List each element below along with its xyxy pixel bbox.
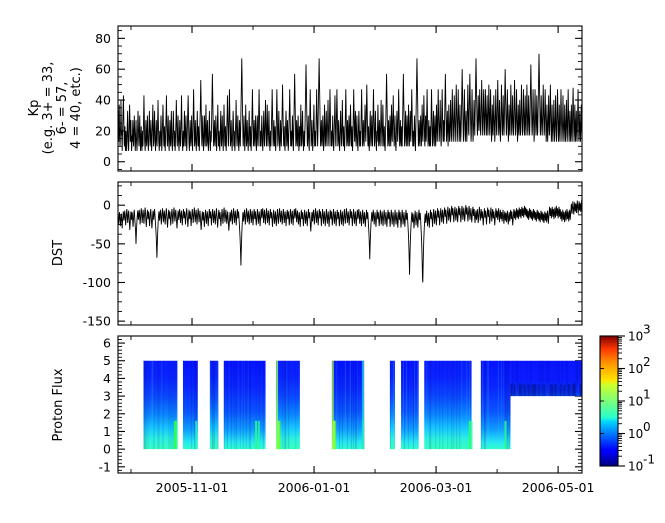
- flux-column: [249, 361, 250, 449]
- flux-column: [342, 361, 343, 449]
- flux-column: [224, 361, 225, 449]
- flux-streak: [174, 421, 176, 449]
- colorbar-tick-exponent: 2: [643, 355, 651, 369]
- dst-ytick-label: 0: [103, 198, 111, 213]
- flux-column-edge: [560, 385, 561, 396]
- flux-column: [145, 361, 146, 449]
- flux-column: [567, 361, 568, 396]
- flux-column: [213, 361, 214, 449]
- flux-column: [173, 361, 174, 449]
- flux-column: [361, 361, 362, 449]
- flux-column: [355, 361, 356, 449]
- flux-ytick-label: 2: [103, 406, 111, 421]
- flux-column: [263, 361, 264, 449]
- flux-column: [162, 361, 163, 449]
- flux-column: [408, 361, 409, 449]
- flux-column: [242, 361, 243, 449]
- dst-ytick-label: -100: [83, 275, 111, 290]
- flux-column: [158, 361, 159, 449]
- flux-column-edge: [551, 384, 552, 396]
- flux-column: [579, 361, 580, 396]
- flux-column-edge: [539, 384, 540, 396]
- flux-column-edge: [514, 385, 515, 397]
- flux-column: [508, 361, 509, 449]
- flux-column: [543, 361, 544, 396]
- flux-column-edge: [552, 385, 553, 397]
- flux-streak: [332, 361, 334, 449]
- flux-column: [243, 361, 244, 449]
- flux-column: [153, 361, 154, 449]
- flux-ytick-label: 4: [103, 371, 111, 386]
- dst-ytick-label: -50: [91, 236, 111, 251]
- flux-column-edge: [521, 385, 522, 396]
- flux-column-edge: [565, 384, 566, 396]
- flux-column: [244, 361, 245, 449]
- kp-ytick-label: 0: [103, 154, 111, 169]
- flux-column-edge: [545, 385, 546, 396]
- flux-column-edge: [532, 385, 533, 396]
- flux-column: [577, 361, 578, 396]
- flux-column: [414, 361, 415, 449]
- kp-ylabel-line-3: 6- = 57,: [55, 82, 70, 135]
- flux-column-edge: [572, 385, 573, 396]
- flux-column: [466, 361, 467, 449]
- flux-column-edge: [555, 384, 556, 396]
- flux-column: [154, 361, 155, 449]
- flux-column: [345, 361, 346, 449]
- flux-column: [286, 361, 287, 449]
- flux-column-edge: [530, 385, 531, 396]
- flux-column: [483, 361, 484, 449]
- flux-column: [503, 361, 504, 449]
- flux-column: [453, 361, 454, 449]
- flux-column: [285, 361, 286, 449]
- flux-column: [485, 361, 486, 449]
- colorbar-tick-exponent: 1: [643, 388, 651, 402]
- flux-column: [559, 361, 560, 396]
- flux-column: [152, 361, 153, 449]
- flux-column: [353, 361, 354, 449]
- flux-xtick-label: 2006-05-01: [522, 480, 595, 495]
- flux-column-edge: [574, 383, 575, 396]
- flux-column-edge: [564, 385, 565, 396]
- colorbar-tick-exponent: 3: [643, 323, 651, 337]
- flux-column: [295, 361, 296, 449]
- flux-column: [548, 361, 549, 396]
- flux-column: [507, 361, 508, 449]
- flux-column: [540, 361, 541, 396]
- flux-column-edge: [542, 384, 543, 396]
- flux-xtick-label: 2006-03-01: [400, 480, 473, 495]
- flux-column: [229, 361, 230, 449]
- flux-streak: [255, 421, 257, 449]
- flux-column: [461, 361, 462, 449]
- flux-streak: [258, 421, 260, 449]
- flux-column-edge: [581, 384, 582, 396]
- flux-column: [390, 361, 391, 449]
- flux-streak: [362, 361, 364, 449]
- flux-column: [487, 361, 488, 449]
- flux-column: [144, 361, 145, 449]
- flux-column: [163, 361, 164, 449]
- flux-column: [403, 361, 404, 449]
- dst-ytick-label: -150: [83, 314, 111, 329]
- flux-streak: [334, 421, 336, 449]
- flux-xtick-label: 2006-01-01: [278, 480, 351, 495]
- flux-column: [430, 361, 431, 449]
- flux-streak: [505, 421, 507, 449]
- flux-column: [347, 361, 348, 449]
- flux-column: [217, 361, 218, 449]
- kp-ytick-label: 80: [95, 31, 111, 46]
- flux-column: [509, 361, 510, 449]
- flux-column: [212, 361, 213, 449]
- flux-column: [357, 361, 358, 449]
- flux-column-edge: [528, 383, 529, 396]
- flux-streak: [471, 421, 473, 449]
- colorbar-tick-mantissa: 10: [628, 362, 643, 376]
- flux-column: [404, 361, 405, 449]
- flux-column: [288, 361, 289, 449]
- space-weather-figure: Kp (e.g. 3+ = 33, 6- = 57, 4 = 40, etc.)…: [0, 0, 665, 523]
- flux-column: [238, 361, 239, 449]
- flux-column: [481, 361, 482, 449]
- flux-column-edge: [580, 385, 581, 397]
- flux-column: [447, 361, 448, 449]
- flux-column: [250, 361, 251, 449]
- flux-ytick-label: 6: [103, 336, 111, 351]
- flux-column: [576, 361, 577, 396]
- flux-column-edge: [538, 385, 539, 396]
- flux-column: [394, 361, 395, 449]
- flux-ytick-label: 3: [103, 389, 111, 404]
- flux-column: [413, 361, 414, 449]
- flux-column: [159, 361, 160, 449]
- flux-column: [227, 361, 228, 449]
- flux-column: [236, 361, 237, 449]
- flux-column-edge: [515, 385, 516, 397]
- colorbar-tick-mantissa: 10: [628, 330, 643, 344]
- flux-column-edge: [525, 385, 526, 396]
- flux-column: [518, 361, 519, 396]
- flux-column: [547, 361, 548, 396]
- flux-column-edge: [561, 383, 562, 396]
- flux-column: [482, 361, 483, 449]
- flux-column: [231, 361, 232, 449]
- flux-column-edge: [550, 385, 551, 396]
- flux-column-edge: [563, 386, 564, 397]
- flux-ytick-label: 0: [103, 442, 111, 457]
- flux-column: [246, 361, 247, 449]
- flux-column-edge: [575, 383, 576, 396]
- flux-column: [282, 361, 283, 449]
- flux-column-edge: [573, 384, 574, 396]
- colorbar-tick-mantissa: 10: [628, 427, 643, 441]
- flux-column: [549, 361, 550, 396]
- flux-column: [484, 361, 485, 449]
- flux-column-edge: [512, 383, 513, 396]
- flux-column: [456, 361, 457, 449]
- flux-streak: [469, 421, 471, 449]
- flux-column: [531, 361, 532, 396]
- flux-column: [393, 361, 394, 449]
- flux-column: [498, 361, 499, 449]
- flux-column: [339, 361, 340, 449]
- flux-ytick-label: 5: [103, 353, 111, 368]
- flux-streak: [278, 421, 280, 449]
- flux-column-edge: [519, 385, 520, 397]
- flux-column: [541, 361, 542, 396]
- flux-streak: [176, 421, 178, 449]
- flux-column-edge: [558, 386, 559, 396]
- kp-ylabel-line-2: (e.g. 3+ = 33,: [41, 62, 56, 155]
- flux-column: [439, 361, 440, 449]
- flux-column: [351, 361, 352, 449]
- flux-column-edge: [533, 384, 534, 396]
- flux-ytick-label: -1: [99, 459, 111, 474]
- flux-column: [234, 361, 235, 449]
- flux-column: [501, 361, 502, 449]
- flux-column: [214, 361, 215, 449]
- flux-column: [336, 361, 337, 449]
- flux-column-edge: [553, 385, 554, 396]
- flux-column-edge: [535, 384, 536, 397]
- flux-column: [562, 361, 563, 396]
- flux-column: [442, 361, 443, 449]
- flux-column: [284, 361, 285, 449]
- flux-column: [488, 361, 489, 449]
- flux-column-edge: [568, 384, 569, 397]
- flux-column: [248, 361, 249, 449]
- flux-column: [566, 361, 567, 396]
- kp-ytick-label: 60: [95, 62, 111, 77]
- flux-column: [148, 361, 149, 449]
- colorbar-tick-exponent: -1: [643, 453, 655, 467]
- colorbar-tick-mantissa: 10: [628, 395, 643, 409]
- flux-column-edge: [526, 385, 527, 396]
- flux-streak: [276, 361, 278, 449]
- flux-column: [517, 361, 518, 396]
- flux-column: [451, 361, 452, 449]
- flux-column: [417, 361, 418, 449]
- flux-column-edge: [556, 384, 557, 396]
- flux-column: [426, 361, 427, 449]
- flux-column: [435, 361, 436, 449]
- flux-column-edge: [570, 384, 571, 396]
- flux-column: [557, 361, 558, 396]
- colorbar-tick-mantissa: 10: [628, 460, 643, 474]
- flux-column: [406, 361, 407, 449]
- flux-column-edge: [520, 383, 521, 396]
- flux-column-edge: [544, 384, 545, 396]
- flux-column-edge: [569, 384, 570, 396]
- flux-column: [146, 361, 147, 449]
- kp-ytick-label: 20: [95, 123, 111, 138]
- flux-column-edge: [534, 384, 535, 396]
- kp-ylabel-line-1: Kp: [27, 100, 42, 117]
- flux-column: [350, 361, 351, 449]
- flux-column-edge: [529, 385, 530, 396]
- kp-ytick-label: 40: [95, 93, 111, 108]
- flux-column-edge: [536, 384, 537, 396]
- proton-flux-ylabel: Proton Flux: [51, 368, 66, 441]
- flux-column: [171, 361, 172, 449]
- colorbar-tick-exponent: 0: [643, 420, 651, 434]
- flux-band: [144, 361, 178, 449]
- flux-column: [516, 361, 517, 396]
- flux-column-edge: [511, 384, 512, 396]
- dst-ylabel: DST: [51, 240, 66, 266]
- flux-column: [210, 361, 211, 449]
- flux-ytick-label: 1: [103, 424, 111, 439]
- flux-column-edge: [524, 383, 525, 396]
- flux-column: [356, 361, 357, 449]
- flux-column: [218, 361, 219, 449]
- flux-streak: [195, 421, 197, 449]
- flux-column: [527, 361, 528, 396]
- flux-column: [459, 361, 460, 449]
- flux-column: [191, 361, 192, 449]
- flux-column: [194, 361, 195, 449]
- flux-column: [554, 361, 555, 396]
- flux-column: [429, 361, 430, 449]
- flux-column: [240, 361, 241, 449]
- flux-column: [513, 361, 514, 396]
- kp-ylabel-line-4: 4 = 40, etc.): [69, 67, 84, 149]
- flux-column: [169, 361, 170, 449]
- flux-xtick-label: 2005-11-01: [156, 480, 229, 495]
- flux-column-edge: [522, 384, 523, 396]
